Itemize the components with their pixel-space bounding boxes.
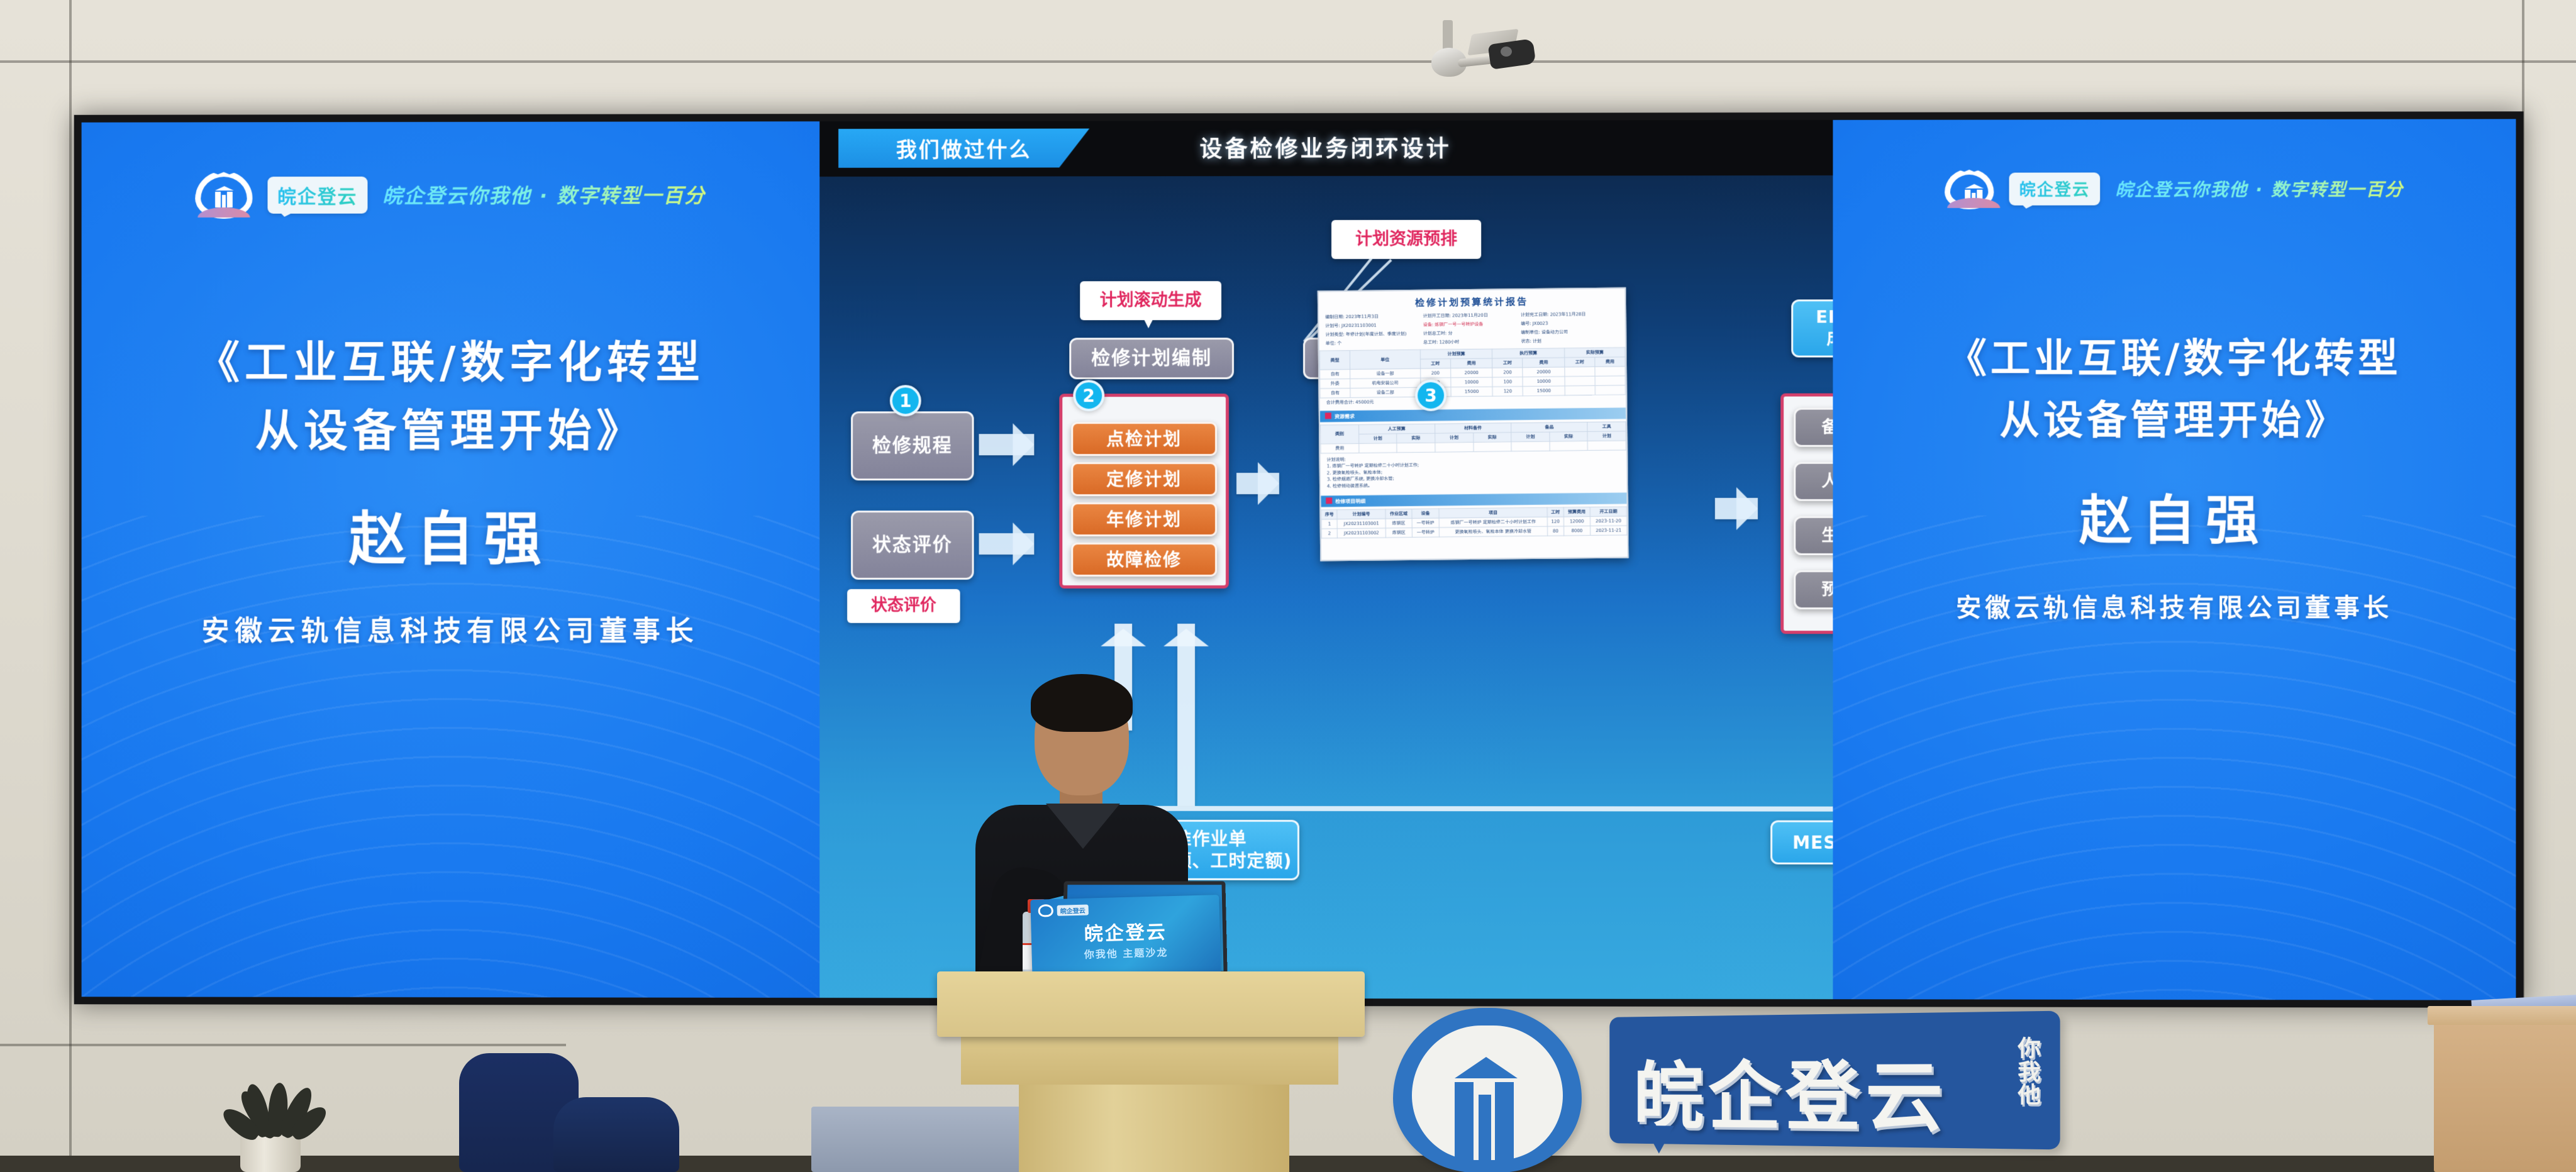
report-meta-item: 总工时: 1280小时 <box>1423 337 1521 347</box>
podium-logo-badge: 皖企登云 <box>1057 904 1089 915</box>
report-section-2: 资源需求 <box>1320 407 1626 422</box>
wall-logo-sign: 皖企登云 你我他 <box>1393 1003 2079 1172</box>
right-title-line1: 《工业互联/数字化转型 <box>1833 328 2516 390</box>
arrow-right <box>1236 473 1279 494</box>
node-maintenance-rules: 检修规程 <box>851 411 974 480</box>
brand-row-left: 皖企登云 皖企登云你我他 · 数字转型一百分 <box>82 170 820 219</box>
cloud-house-logo-icon <box>195 171 252 219</box>
cloud-house-logo-icon <box>1945 169 1994 209</box>
arrow-right <box>979 533 1035 555</box>
node-labor-demand-check: 人力需求检查 <box>1794 462 1833 501</box>
node-plan-compile: 检修计划编制 <box>1069 338 1234 379</box>
report-screenshot: 检修计划预算统计报告 编制日期: 2023年11月3日 计划开工日期: 2023… <box>1318 287 1629 561</box>
left-title-line2: 从设备管理开始》 <box>82 397 820 465</box>
left-speaker-name: 赵自强 <box>82 492 820 576</box>
wall-sign-plate: 皖企登云 你我他 <box>1609 1011 2060 1150</box>
cloud-house-logo-3d-icon <box>1393 1008 1582 1172</box>
badge-2: 2 <box>1073 380 1104 411</box>
node-mes-system: MES生产系统 <box>1770 821 1833 865</box>
node-budget-fund-check: 预算资金检查 <box>1794 570 1833 609</box>
node-fault-repair: 故障检修 <box>1071 543 1217 577</box>
podium-card-title: 皖企登云 <box>1031 915 1220 948</box>
right-speaker-org: 安徽云轨信息科技有限公司董事长 <box>1833 587 2516 624</box>
right-title-panel: 皖企登云 皖企登云你我他 · 数字转型一百分 《工业互联/数字化转型 从设备管理… <box>1833 119 2516 1000</box>
left-title-panel: 皖企登云 皖企登云你我他 · 数字转型一百分 《工业互联/数字化转型 从设备管理… <box>82 121 820 998</box>
left-panel-body: 《工业互联/数字化转型 从设备管理开始》 赵自强 安徽云轨信息科技有限公司董事长 <box>82 329 820 649</box>
report-meta-item: 单位: 个 <box>1326 338 1424 348</box>
feed-line <box>1114 806 1833 812</box>
left-title-line1: 《工业互联/数字化转型 <box>82 329 820 397</box>
node-spare-parts-demand: 备件物资需求 <box>1794 407 1833 446</box>
callout-condition-assessment: 状态评价 <box>847 589 960 623</box>
wall-seam <box>69 0 72 1172</box>
right-title-line2: 从设备管理开始》 <box>1833 389 2516 451</box>
side-desk <box>2434 1006 2576 1172</box>
podium: 皖企登云 皖企登云 你我他 主题沙龙 <box>937 971 1365 1172</box>
check-group-card: 备件物资需求 人力需求检查 生产计划检查 预算资金检查 <box>1780 393 1833 634</box>
wall-seam <box>0 60 2576 63</box>
arrow-right <box>979 434 1035 455</box>
brand-slogan: 皖企登云你我他 · 数字转型一百分 <box>382 180 706 209</box>
wall-sign-main-text: 皖企登云 <box>1633 1034 1948 1147</box>
podium-name-card: 皖企登云 皖企登云 你我他 主题沙龙 <box>1030 895 1221 984</box>
badge-3: 3 <box>1415 380 1446 411</box>
badge-1: 1 <box>890 385 921 416</box>
report-section-3: 检修项目明细 <box>1321 492 1627 507</box>
callout-plan-rolling: 计划滚动生成 <box>1080 281 1221 320</box>
slide-title: 设备检修业务闭环设计 <box>819 130 1833 164</box>
wall-seam <box>0 1044 566 1046</box>
report-title: 检修计划预算统计报告 <box>1319 289 1625 313</box>
callout-resource-preschedule: 计划资源预排 <box>1331 220 1481 259</box>
brand-badge: 皖企登云 <box>2009 172 2100 205</box>
brand-slogan: 皖企登云你我他 · 数字转型一百分 <box>2115 176 2404 202</box>
brand-badge-text: 皖企登云 <box>2019 180 2090 199</box>
node-condition-assessment: 状态评价 <box>851 511 974 580</box>
wall-sign-side-text: 你我他 <box>2014 1037 2045 1108</box>
report-table-budget: 类型 单位 计划预算 执行预算 实际预算 工时 费用 工时 费用 工时 费用 自… <box>1319 347 1626 398</box>
screen-content: 皖企登云 皖企登云你我他 · 数字转型一百分 《工业互联/数字化转型 从设备管理… <box>82 119 2516 1000</box>
report-table-items: 序号计划编号 作业区域设备 项目工时 预算费用开工日期 1JX202311030… <box>1321 506 1627 538</box>
report-meta: 编制日期: 2023年11月3日 计划开工日期: 2023年11月20日 计划完… <box>1319 309 1625 348</box>
right-speaker-name: 赵自强 <box>1833 478 2516 555</box>
led-video-wall: 皖企登云 皖企登云你我他 · 数字转型一百分 《工业互联/数字化转型 从设备管理… <box>74 111 2524 1008</box>
potted-plant <box>201 1069 340 1172</box>
ceiling-camera-icon <box>1421 18 1535 93</box>
plan-group-card: 点检计划 定修计划 年修计划 故障检修 <box>1059 394 1229 589</box>
node-fixed-repair-plan: 定修计划 <box>1071 462 1217 496</box>
brand-row-right: 皖企登云 皖企登云你我他 · 数字转型一百分 <box>1833 169 2516 209</box>
left-speaker-org: 安徽云轨信息科技有限公司董事长 <box>82 609 820 649</box>
node-point-check-plan: 点检计划 <box>1071 422 1217 456</box>
arrow-right <box>1715 498 1758 519</box>
node-annual-repair-plan: 年修计划 <box>1071 502 1217 536</box>
right-panel-body: 《工业互联/数字化转型 从设备管理开始》 赵自强 安徽云轨信息科技有限公司董事长 <box>1833 328 2516 624</box>
report-table-resource: 类别 人工预算 材料备件 备品 工具 计划实际 计划实际 计划实际 计划 费用 <box>1320 421 1626 453</box>
node-production-plan-check: 生产计划检查 <box>1794 516 1833 555</box>
node-erp-inventory: ERP物资库存 成本及预算 <box>1791 299 1833 357</box>
brand-badge-text: 皖企登云 <box>277 185 357 207</box>
chair <box>553 1097 679 1172</box>
cloud-house-logo-icon <box>1038 904 1054 917</box>
report-meta-item: 状态: 计划 <box>1521 336 1619 346</box>
brand-badge: 皖企登云 <box>267 176 367 213</box>
report-notes: 计划说明: 1. 炼钢厂一号转炉 定期检修二十小时计划工作; 2. 更换氧枪喷头… <box>1320 450 1626 493</box>
